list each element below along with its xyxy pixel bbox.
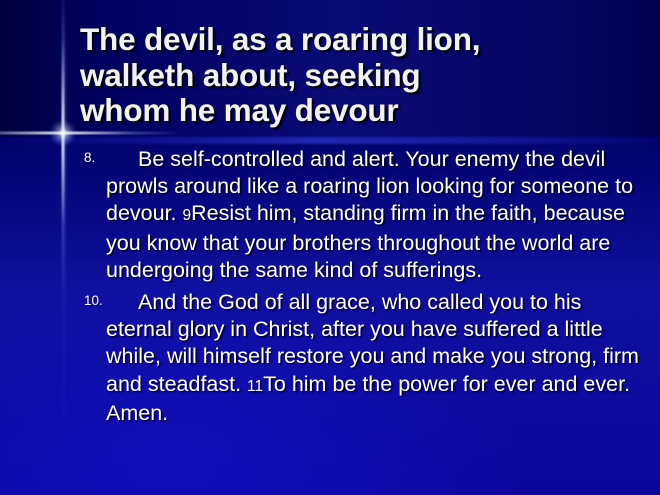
verse-number-inline: 9 — [183, 207, 192, 224]
verse-number-inline: 11 — [247, 378, 263, 395]
sparkle-horizontal-ray — [0, 132, 183, 135]
verse-item: 10.And the God of all grace, who called … — [84, 289, 644, 427]
title-band-edge-glow — [0, 137, 660, 144]
sparkle-core — [50, 120, 76, 146]
presentation-slide: The devil, as a roaring lion, walketh ab… — [0, 0, 660, 495]
verse-list: 8.Be self-controlled and alert. Your ene… — [84, 146, 644, 432]
verse-marker: 8. — [84, 151, 95, 165]
sparkle-vertical-ray — [62, 0, 65, 298]
slide-title: The devil, as a roaring lion, walketh ab… — [80, 22, 636, 129]
verse-item: 8.Be self-controlled and alert. Your ene… — [84, 146, 644, 284]
verse-marker: 10. — [84, 294, 103, 308]
